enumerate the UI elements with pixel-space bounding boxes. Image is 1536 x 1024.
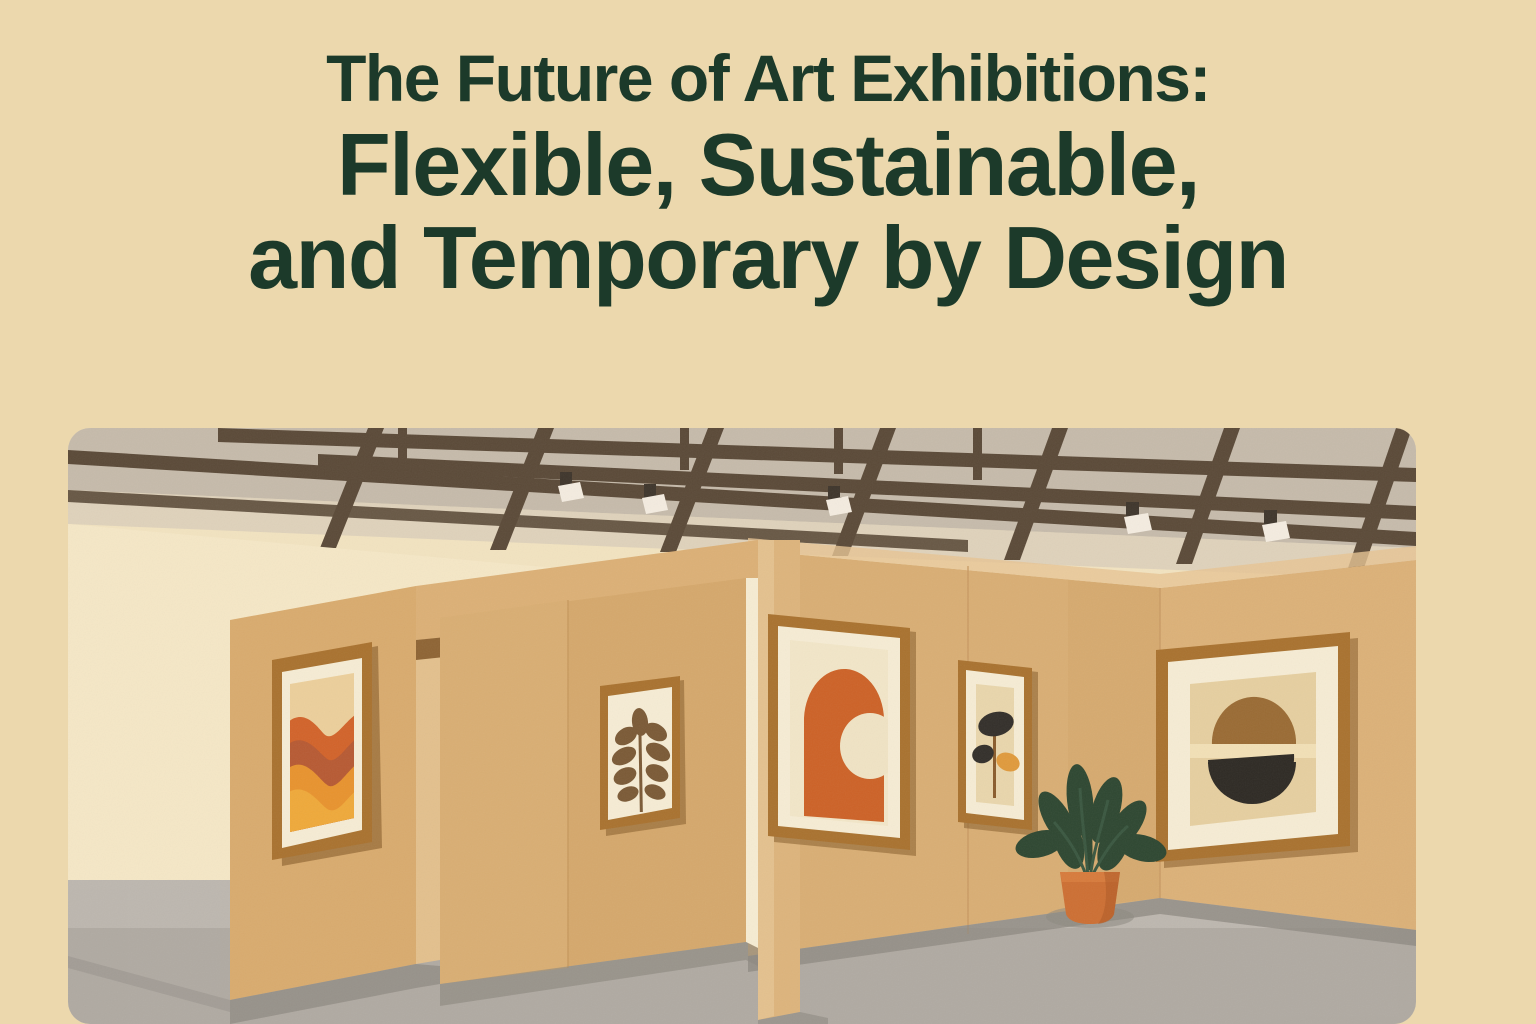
page-title: The Future of Art Exhibitions: Flexible,… (0, 44, 1536, 304)
title-line-1: The Future of Art Exhibitions: (64, 44, 1472, 113)
grain-overlay (68, 428, 1416, 1024)
gallery-scene-svg (68, 428, 1416, 1024)
title-line-3: and Temporary by Design (64, 212, 1472, 304)
gallery-interior-illustration (68, 428, 1416, 1024)
poster-page: The Future of Art Exhibitions: Flexible,… (0, 0, 1536, 1024)
title-line-2: Flexible, Sustainable, (64, 119, 1472, 211)
